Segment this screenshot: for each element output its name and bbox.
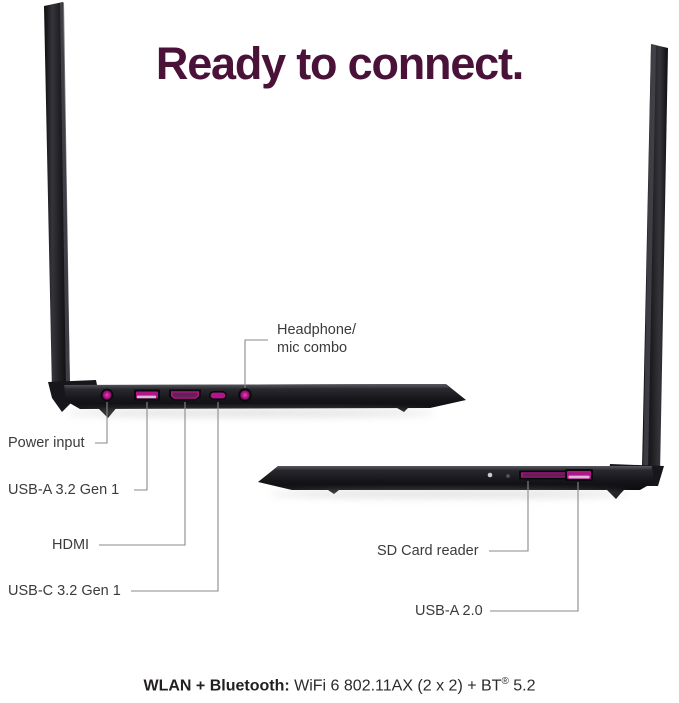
- laptop-left-base: [64, 384, 466, 409]
- leader-headphone-mic: [245, 340, 268, 388]
- laptop-right-base-top-edge: [275, 466, 652, 470]
- footer-spec-registered-mark: ®: [501, 676, 508, 687]
- callout-hdmi-line1: HDMI: [52, 537, 89, 555]
- callout-power-input-line1: Power input: [8, 435, 85, 453]
- callout-usb-a-32-gen-1-line1: USB-A 3.2 Gen 1: [8, 482, 119, 500]
- laptop-right-base: [258, 466, 654, 490]
- callout-hdmi: HDMI: [52, 537, 89, 555]
- callout-headphone-mic-combo-line2: mic combo: [277, 340, 356, 358]
- laptop-left-shadow: [65, 409, 435, 417]
- laptop-left-foot: [96, 406, 118, 418]
- leader-usb-c: [131, 402, 218, 591]
- laptop-right-shadow: [270, 490, 630, 498]
- leader-power-input: [95, 402, 107, 443]
- port-sd-card-reader: [519, 471, 571, 480]
- leader-lines: [95, 340, 578, 611]
- callout-usb-a-20-line1: USB-A 2.0: [415, 603, 483, 621]
- footer-spec-value-a: WiFi 6 802.11AX (2 x 2) + BT: [290, 677, 502, 694]
- port-hdmi: [169, 390, 201, 401]
- footer-spec-line: WLAN + Bluetooth: WiFi 6 802.11AX (2 x 2…: [0, 676, 679, 695]
- leader-usb-a-3: [134, 402, 147, 490]
- status-led-1: [488, 473, 493, 478]
- page-title: Ready to connect.: [0, 40, 679, 87]
- footer-spec-value-b: 5.2: [509, 677, 536, 694]
- laptop-left-foot-rear: [390, 404, 412, 412]
- callout-sd-card-reader-line1: SD Card reader: [377, 543, 479, 561]
- callout-sd-card-reader: SD Card reader: [377, 543, 479, 561]
- laptop-left-base-top-edge: [64, 384, 449, 389]
- laptop-right-hinge: [608, 464, 664, 496]
- leader-usb-a-2: [490, 482, 578, 611]
- port-usb-a-3: [134, 390, 160, 401]
- leader-sd-card: [489, 481, 528, 551]
- port-power-input: [101, 389, 114, 402]
- leader-hdmi: [99, 402, 185, 545]
- laptop-right: [258, 44, 668, 499]
- status-led-2: [506, 474, 510, 478]
- callout-usb-c-32-gen-1: USB-C 3.2 Gen 1: [8, 583, 121, 601]
- port-usb-a-2: [565, 469, 593, 481]
- callout-headphone-mic-combo-line1: Headphone/: [277, 322, 356, 340]
- laptop-right-foot: [604, 487, 626, 499]
- laptop-right-lid: [642, 44, 668, 474]
- footer-spec-label: WLAN + Bluetooth:: [143, 677, 289, 694]
- port-usb-c: [209, 391, 227, 400]
- infographic-canvas: Ready to connect.: [0, 0, 679, 703]
- callout-usb-a-20: USB-A 2.0: [415, 603, 483, 621]
- laptop-right-lid-highlight: [643, 44, 656, 471]
- port-headphone-mic: [238, 388, 252, 402]
- laptop-right-foot-front: [322, 486, 344, 494]
- callout-headphone-mic-combo: Headphone/ mic combo: [277, 322, 356, 357]
- callout-usb-c-32-gen-1-line1: USB-C 3.2 Gen 1: [8, 583, 121, 601]
- callout-power-input: Power input: [8, 435, 85, 453]
- laptop-left-hinge: [48, 380, 100, 412]
- callout-usb-a-32-gen-1: USB-A 3.2 Gen 1: [8, 482, 119, 500]
